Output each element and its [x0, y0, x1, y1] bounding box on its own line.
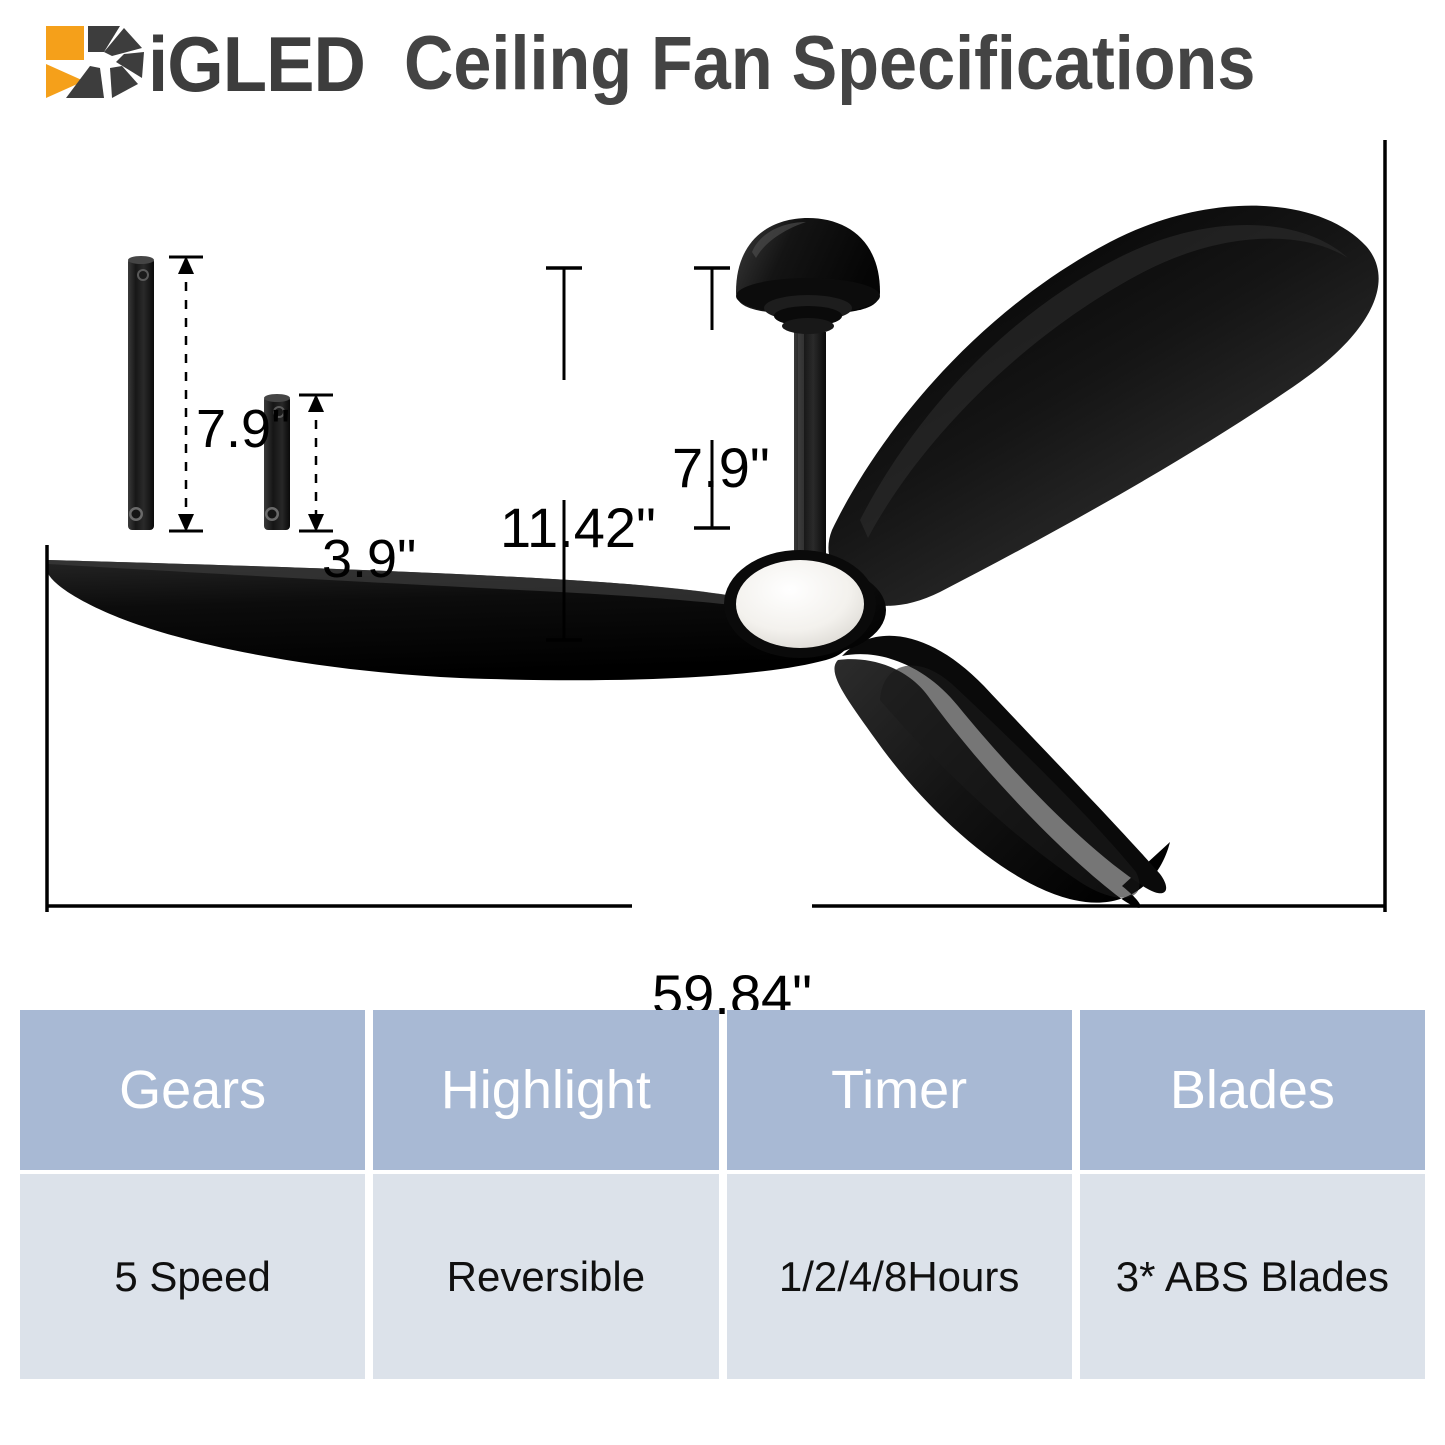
digled-aperture-logo-icon	[38, 22, 158, 102]
table-header-row: Gears Highlight Timer Blades	[20, 1010, 1425, 1170]
dimension-downrod-long	[169, 256, 203, 532]
table-cell-timer: 1/2/4/8Hours	[727, 1174, 1072, 1379]
dimension-label-total-height: 11.42"	[500, 495, 656, 560]
downrod-long	[128, 256, 154, 530]
logo-wordmark: iGLED	[148, 24, 365, 104]
table-header-gears: Gears	[20, 1010, 365, 1170]
specifications-table: Gears Highlight Timer Blades 5 Speed Rev…	[20, 1010, 1425, 1379]
product-dimension-diagram: 7.9" 3.9" 11.42" 7.9" 59.84"	[0, 100, 1445, 970]
table-cell-gears: 5 Speed	[20, 1174, 365, 1379]
fan-blade-lower-right	[834, 636, 1170, 908]
table-header-highlight: Highlight	[373, 1010, 718, 1170]
dimension-label-downrod-long: 7.9"	[196, 398, 290, 460]
dimension-label-downrod-short: 3.9"	[322, 528, 416, 590]
led-light-diffuser	[724, 550, 876, 658]
ceiling-canopy	[736, 218, 880, 334]
dimension-downrod-short	[299, 394, 333, 532]
dimension-label-rod-height: 7.9"	[672, 435, 770, 500]
fan-blade-upper-right	[828, 206, 1378, 606]
page-title: Ceiling Fan Specifications	[404, 22, 1255, 106]
table-row: 5 Speed Reversible 1/2/4/8Hours 3* ABS B…	[20, 1174, 1425, 1379]
table-header-blades: Blades	[1080, 1010, 1425, 1170]
table-cell-blades: 3* ABS Blades	[1080, 1174, 1425, 1379]
table-header-timer: Timer	[727, 1010, 1072, 1170]
table-cell-highlight: Reversible	[373, 1174, 718, 1379]
